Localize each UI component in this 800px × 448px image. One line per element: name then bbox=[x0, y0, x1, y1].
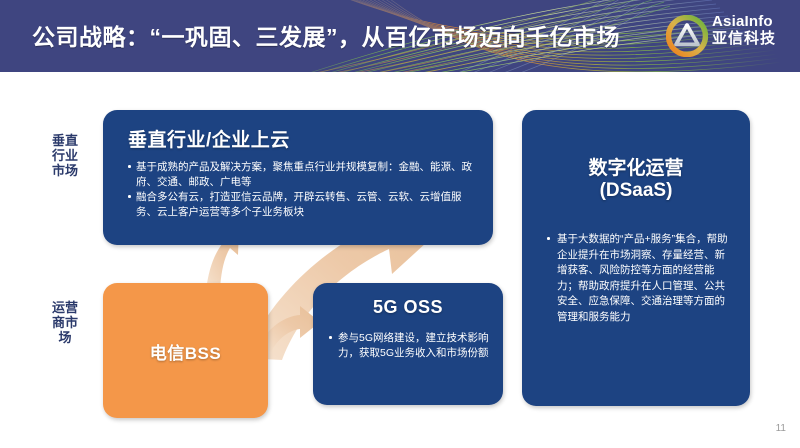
card-dsaas-title: 数字化运营 (DSaaS) bbox=[522, 158, 750, 202]
card-vertical-industry-title: 垂直行业/企业上云 bbox=[128, 125, 290, 152]
list-item: 基于大数据的“产品+服务”集合，帮助企业提升在市场洞察、存量经营、新增获客、风险… bbox=[544, 232, 734, 325]
logo-text-chinese: 亚信科技 bbox=[712, 30, 790, 48]
asiainfo-logo-mark bbox=[666, 15, 708, 57]
card-dsaas-title-line2: (DSaaS) bbox=[522, 180, 750, 202]
asiainfo-logo-text: AsiaInfo 亚信科技 bbox=[712, 13, 790, 48]
page-title: 公司战略：“一巩固、三发展”，从百亿市场迈向千亿市场 bbox=[32, 18, 620, 52]
card-telecom-bss-title: 电信BSS bbox=[103, 339, 268, 364]
card-5g-oss[interactable]: 5G OSS 参与5G网络建设，建立技术影响力，获取5G业务收入和市场份额 bbox=[313, 283, 503, 405]
card-telecom-bss[interactable]: 电信BSS bbox=[103, 283, 268, 418]
logo-text-english: AsiaInfo bbox=[712, 13, 790, 30]
card-5g-oss-title: 5G OSS bbox=[313, 297, 503, 318]
list-item: 参与5G网络建设，建立技术影响力，获取5G业务收入和市场份额 bbox=[327, 331, 493, 361]
slide-canvas: 公司战略：“一巩固、三发展”，从百亿市场迈向千亿市场 bbox=[0, 0, 800, 448]
card-dsaas-bullets: 基于大数据的“产品+服务”集合，帮助企业提升在市场洞察、存量经营、新增获客、风险… bbox=[544, 232, 734, 326]
card-vertical-industry-bullets: 基于成熟的产品及解决方案，聚焦重点行业并规模复制：金融、能源、政府、交通、邮政、… bbox=[127, 160, 479, 220]
list-item: 融合多公有云，打造亚信云品牌，开辟云转售、云管、云软、云增值服务、云上客户运营等… bbox=[127, 190, 479, 219]
slide-header: 公司战略：“一巩固、三发展”，从百亿市场迈向千亿市场 bbox=[0, 0, 800, 72]
page-number: 11 bbox=[776, 423, 786, 434]
asiainfo-logo: AsiaInfo 亚信科技 bbox=[666, 9, 790, 63]
card-vertical-industry[interactable]: 垂直行业/企业上云 基于成熟的产品及解决方案，聚焦重点行业并规模复制：金融、能源… bbox=[103, 110, 493, 245]
header-divider bbox=[0, 72, 800, 75]
card-dsaas[interactable]: 数字化运营 (DSaaS) 基于大数据的“产品+服务”集合，帮助企业提升在市场洞… bbox=[522, 110, 750, 406]
side-label-operator-market: 运营商市场 bbox=[52, 300, 78, 345]
card-dsaas-title-line1: 数字化运营 bbox=[522, 158, 750, 180]
list-item: 基于成熟的产品及解决方案，聚焦重点行业并规模复制：金融、能源、政府、交通、邮政、… bbox=[127, 160, 479, 189]
card-5g-oss-bullets: 参与5G网络建设，建立技术影响力，获取5G业务收入和市场份额 bbox=[327, 331, 493, 362]
side-label-vertical-market: 垂直行业市场 bbox=[52, 133, 78, 178]
